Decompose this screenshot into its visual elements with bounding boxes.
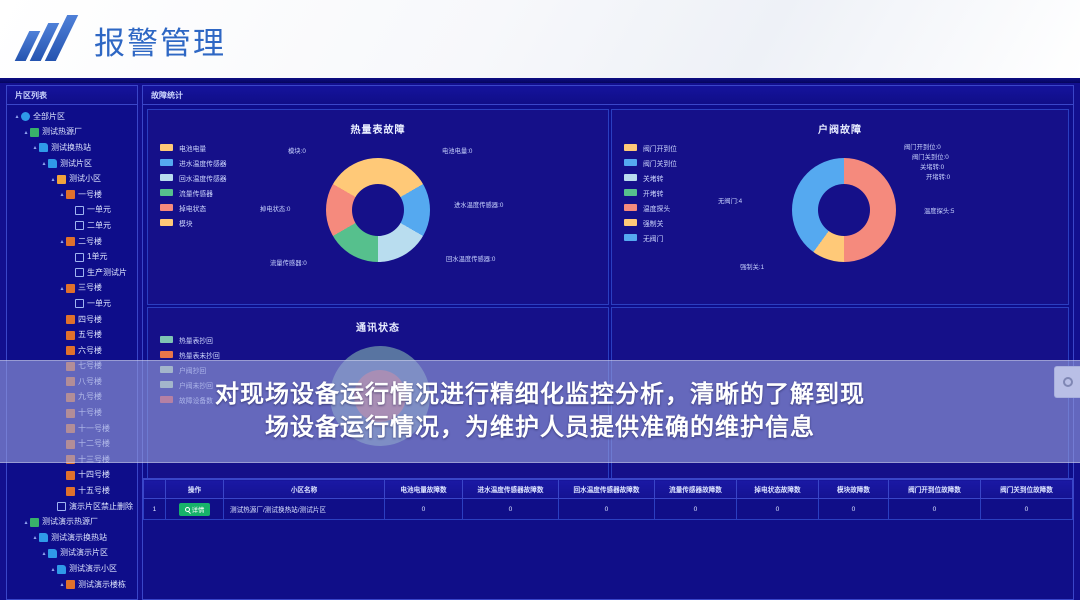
row-fault-count: 0 [385,499,463,520]
sidebar-tree-item[interactable]: ▴一单元 [7,203,137,219]
legend-label: 热量表未抄回 [179,350,220,360]
globe-icon [21,112,30,121]
file-icon [57,502,66,511]
tree-caret-icon[interactable]: ▴ [49,566,57,573]
row-fault-count: 0 [819,499,889,520]
building-icon [66,346,75,355]
sidebar-tree-item[interactable]: ▴全部片区 [7,109,137,125]
row-fault-count: 0 [889,499,981,520]
row-fault-count: 0 [981,499,1073,520]
legend-label: 进水温度传感器 [179,158,227,168]
table-column-header: 进水温度传感器故障数 [463,480,559,499]
folder-icon [48,159,57,168]
table-row[interactable]: 1详情测试热源厂/测试换热站/测试片区00000000 [144,499,1073,520]
row-fault-count: 0 [559,499,655,520]
legend-item[interactable]: 热量表抄回 [160,332,220,347]
legend-item[interactable]: 开堵转 [624,185,677,200]
sidebar-tree-item[interactable]: ▴六号楼 [7,343,137,359]
sidebar-item-label: 1单元 [87,253,107,261]
legend-label: 阀门开到位 [643,143,677,153]
body-area: 片区列表 ▴全部片区▴测试热源厂▴测试换热站▴测试片区▴测试小区▴一号楼▴一单元… [0,83,1080,600]
tree-caret-icon[interactable]: ▴ [49,176,57,183]
detail-button-label: 详情 [192,505,205,514]
detail-button[interactable]: 详情 [179,503,211,516]
table-column-header: 回水温度传感器故障数 [559,480,655,499]
table-column-header: 阀门开到位故障数 [889,480,981,499]
legend-item[interactable]: 电池电量 [160,140,227,155]
chart-title-0: 热量表故障 [148,110,608,136]
tree-caret-icon[interactable]: ▴ [22,129,30,136]
sidebar-tree-item[interactable]: ▴一号楼 [7,187,137,203]
building-icon [66,190,75,199]
folder-icon [39,143,48,152]
pie-slice-label: 回水温度传感器:0 [446,254,495,263]
folder-icon [48,549,57,558]
tree-caret-icon[interactable]: ▴ [58,285,66,292]
tree-caret-icon[interactable]: ▴ [67,269,75,276]
sidebar-tree-item[interactable]: ▴测试换热站 [7,140,137,156]
tree-caret-icon[interactable]: ▴ [67,222,75,229]
chart-legend-0[interactable]: 电池电量进水温度传感器回水温度传感器流量传感器掉电状态模块 [160,140,227,230]
sidebar-tree-item[interactable]: ▴1单元 [7,249,137,265]
sidebar-item-label: 一单元 [87,300,111,308]
sidebar-tree-item[interactable]: ▴演示片区禁止删除 [7,499,137,515]
legend-label: 强制关 [643,218,663,228]
caption-overlay: 对现场设备运行情况进行精细化监控分析，清晰的了解到现 场设备运行情况，为维护人员… [0,360,1080,463]
legend-swatch [624,159,637,166]
legend-label: 关堵转 [643,173,663,183]
zone-list-sidebar: 片区列表 ▴全部片区▴测试热源厂▴测试换热站▴测试片区▴测试小区▴一号楼▴一单元… [6,85,138,600]
pie-slice-label: 进水温度传感器:0 [454,200,503,209]
row-fault-count: 0 [463,499,559,520]
fault-statistics-panel: 故障统计 热量表故障 电池电量进水温度传感器回水温度传感器流量传感器掉电状态模块… [142,85,1074,600]
sidebar-tree-item[interactable]: ▴一单元 [7,296,137,312]
fault-table: 操作小区名称电池电量故障数进水温度传感器故障数回水温度传感器故障数流量传感器故障… [143,479,1073,520]
folder-icon [39,533,48,542]
legend-label: 模块 [179,218,193,228]
sidebar-item-label: 测试演示片区 [60,549,108,557]
tree-caret-icon[interactable]: ▴ [58,316,66,323]
legend-swatch [624,189,637,196]
sidebar-tree-item[interactable]: ▴测试演示楼栋 [7,577,137,593]
sidebar-item-label: 测试热源厂 [42,128,82,136]
tree-caret-icon[interactable]: ▴ [31,534,39,541]
sidebar-item-label: 二单元 [87,222,111,230]
sidebar-item-label: 测试演示换热站 [51,534,107,542]
file-icon [75,221,84,230]
alarm-management-page: 报警管理 片区列表 ▴全部片区▴测试热源厂▴测试换热站▴测试片区▴测试小区▴一号… [0,0,1080,600]
legend-item[interactable]: 阀门关到位 [624,155,677,170]
legend-label: 开堵转 [643,188,663,198]
chart-legend-1[interactable]: 阀门开到位阀门关到位关堵转开堵转温度探头强制关无阀门 [624,140,677,245]
chart-title-2: 通讯状态 [148,308,608,334]
sidebar-item-label: 测试片区 [60,160,92,168]
zone-tree[interactable]: ▴全部片区▴测试热源厂▴测试换热站▴测试片区▴测试小区▴一号楼▴一单元▴二单元▴… [7,105,137,592]
legend-item[interactable]: 模块 [160,215,227,230]
tree-caret-icon[interactable]: ▴ [40,160,48,167]
legend-swatch [160,351,173,358]
legend-item[interactable]: 进水温度传感器 [160,155,227,170]
sidebar-tree-item[interactable]: ▴十四号楼 [7,468,137,484]
plant-icon [30,518,39,527]
table-column-header: 流量传感器故障数 [655,480,737,499]
pie-slice-label: 温度探头:5 [924,206,954,215]
legend-label: 温度探头 [643,203,670,213]
tree-caret-icon[interactable]: ▴ [49,503,57,510]
legend-swatch [624,204,637,211]
sidebar-tree-item[interactable]: ▴测试片区 [7,156,137,172]
pie-slice-label: 电池电量:0 [442,146,472,155]
chart-title-1: 户阀故障 [612,110,1068,136]
legend-swatch [624,219,637,226]
sidebar-tree-item[interactable]: ▴十五号楼 [7,483,137,499]
legend-item[interactable]: 阀门开到位 [624,140,677,155]
sidebar-tree-item[interactable]: ▴三号楼 [7,281,137,297]
sidebar-tree-item[interactable]: ▴五号楼 [7,327,137,343]
row-index: 1 [144,499,166,520]
sidebar-tree-item[interactable]: ▴二单元 [7,218,137,234]
fault-table-container[interactable]: 操作小区名称电池电量故障数进水温度传感器故障数回水温度传感器故障数流量传感器故障… [143,478,1073,599]
main-panel-title: 故障统计 [143,86,1073,105]
tree-caret-icon[interactable]: ▴ [58,238,66,245]
pie-slice-label: 关堵转:0 [920,162,944,171]
caption-line-1: 对现场设备运行情况进行精细化监控分析，清晰的了解到现 [215,379,865,411]
pie-slice-label: 流量传感器:0 [270,258,307,267]
sidebar-item-label: 生产测试片 [87,269,127,277]
sidebar-item-label: 三号楼 [78,284,102,292]
page-title: 报警管理 [94,18,226,63]
building-icon [66,284,75,293]
pie-slice-label: 阀门关到位:0 [912,152,949,161]
file-icon [75,253,84,262]
caption-line-2: 场设备运行情况，为维护人员提供准确的维护信息 [265,412,815,444]
sidebar-tree-item[interactable]: ▴生产测试片 [7,265,137,281]
building-icon [66,237,75,246]
tree-caret-icon[interactable]: ▴ [58,332,66,339]
sidebar-tree-item[interactable]: ▴四号楼 [7,312,137,328]
donut-chart-heat-meter-faults[interactable] [326,158,430,262]
legend-label: 阀门关到位 [643,158,677,168]
plant-icon [30,128,39,137]
table-column-header: 电池电量故障数 [385,480,463,499]
pie-slice-label: 强制关:1 [740,262,764,271]
pie-slice-label: 掉电状态:0 [260,204,290,213]
legend-label: 无阀门 [643,233,663,243]
sidebar-item-label: 十四号楼 [78,471,110,479]
sidebar-tree-item[interactable]: ▴测试演示热源厂 [7,514,137,530]
table-column-header: 小区名称 [224,480,385,499]
pie-slice-label: 阀门开到位:0 [904,142,941,151]
legend-item[interactable]: 无阀门 [624,230,677,245]
folder-icon [57,565,66,574]
table-column-header [144,480,166,499]
legend-item[interactable]: 流量传感器 [160,185,227,200]
building-icon [66,487,75,496]
pie-slice-label: 开堵转:0 [926,172,950,181]
legend-swatch [624,174,637,181]
magnifier-icon [185,507,190,512]
legend-swatch [624,234,637,241]
sidebar-item-label: 演示片区禁止删除 [69,503,133,511]
sidebar-item-label: 五号楼 [78,331,102,339]
tree-caret-icon[interactable]: ▴ [67,254,75,261]
table-body: 1详情测试热源厂/测试换热站/测试片区00000000 [144,499,1073,520]
legend-label: 回水温度传感器 [179,173,227,183]
table-column-header: 掉电状态故障数 [737,480,819,499]
tree-caret-icon[interactable]: ▴ [58,191,66,198]
donut-hole [352,184,404,236]
tree-caret-icon[interactable]: ▴ [58,472,66,479]
tree-caret-icon[interactable]: ▴ [67,207,75,214]
sidebar-tree-item[interactable]: ▴测试演示换热站 [7,530,137,546]
chart-card-heat-meter-faults: 热量表故障 电池电量进水温度传感器回水温度传感器流量传感器掉电状态模块 电池电量… [147,109,609,305]
building-icon [66,471,75,480]
sidebar-tree-item[interactable]: ▴测试热源厂 [7,125,137,141]
tree-caret-icon[interactable]: ▴ [58,581,66,588]
sidebar-item-label: 二号楼 [78,238,102,246]
sidebar-item-label: 测试演示小区 [69,565,117,573]
legend-swatch [160,336,173,343]
building-icon [66,315,75,324]
sidebar-item-label: 一号楼 [78,191,102,199]
pie-slice-label: 无阀门:4 [718,196,742,205]
tree-caret-icon[interactable]: ▴ [22,519,30,526]
sidebar-tree-item[interactable]: ▴测试小区 [7,171,137,187]
legend-label: 电池电量 [179,143,206,153]
sidebar-item-label: 四号楼 [78,316,102,324]
sidebar-item-label: 全部片区 [33,113,65,121]
legend-swatch [160,204,173,211]
app-logo-icon [18,17,80,63]
row-fault-count: 0 [737,499,819,520]
legend-label: 流量传感器 [179,188,213,198]
sidebar-item-label: 六号楼 [78,347,102,355]
legend-swatch [160,144,173,151]
sidebar-item-label: 测试演示热源厂 [42,518,98,526]
table-column-header: 操作 [166,480,224,499]
sidebar-panel-title: 片区列表 [7,86,137,105]
row-action-cell: 详情 [166,499,224,520]
table-column-header: 阀门关到位故障数 [981,480,1073,499]
sidebar-item-label: 一单元 [87,206,111,214]
legend-item[interactable]: 强制关 [624,215,677,230]
donut-chart-valve-faults[interactable] [792,158,896,262]
legend-item[interactable]: 回水温度传感器 [160,170,227,185]
tree-caret-icon[interactable]: ▴ [58,488,66,495]
table-column-header: 模块故障数 [819,480,889,499]
sidebar-tree-item[interactable]: ▴二号楼 [7,234,137,250]
file-icon [75,299,84,308]
sidebar-item-label: 测试换热站 [51,144,91,152]
tree-caret-icon[interactable]: ▴ [13,113,21,120]
legend-label: 掉电状态 [179,203,206,213]
building-icon [66,580,75,589]
file-icon [75,206,84,215]
tree-caret-icon[interactable]: ▴ [40,550,48,557]
sidebar-item-label: 测试小区 [69,175,101,183]
legend-swatch [160,174,173,181]
building-icon [66,331,75,340]
tree-caret-icon[interactable]: ▴ [58,347,66,354]
legend-swatch [624,144,637,151]
tree-caret-icon[interactable]: ▴ [31,144,39,151]
legend-label: 热量表抄回 [179,335,213,345]
legend-swatch [160,189,173,196]
pie-slice-label: 模块:0 [288,146,306,155]
sidebar-tree-item[interactable]: ▴测试演示片区 [7,546,137,562]
tree-caret-icon[interactable]: ▴ [67,300,75,307]
sidebar-tree-item[interactable]: ▴测试演示小区 [7,561,137,577]
table-header-row: 操作小区名称电池电量故障数进水温度传感器故障数回水温度传感器故障数流量传感器故障… [144,480,1073,499]
file-icon [75,268,84,277]
donut-hole [818,184,870,236]
row-community-name: 测试热源厂/测试换热站/测试片区 [224,499,385,520]
chart-card-valve-faults: 户阀故障 阀门开到位阀门关到位关堵转开堵转温度探头强制关无阀门 阀门开到位:0阀… [611,109,1069,305]
sidebar-item-label: 十五号楼 [78,487,110,495]
legend-item[interactable]: 温度探头 [624,200,677,215]
home-icon [57,175,66,184]
legend-item[interactable]: 掉电状态 [160,200,227,215]
row-fault-count: 0 [655,499,737,520]
legend-swatch [160,219,173,226]
legend-item[interactable]: 关堵转 [624,170,677,185]
sidebar-item-label: 测试演示楼栋 [78,581,126,589]
page-header: 报警管理 [0,0,1080,80]
legend-swatch [160,159,173,166]
